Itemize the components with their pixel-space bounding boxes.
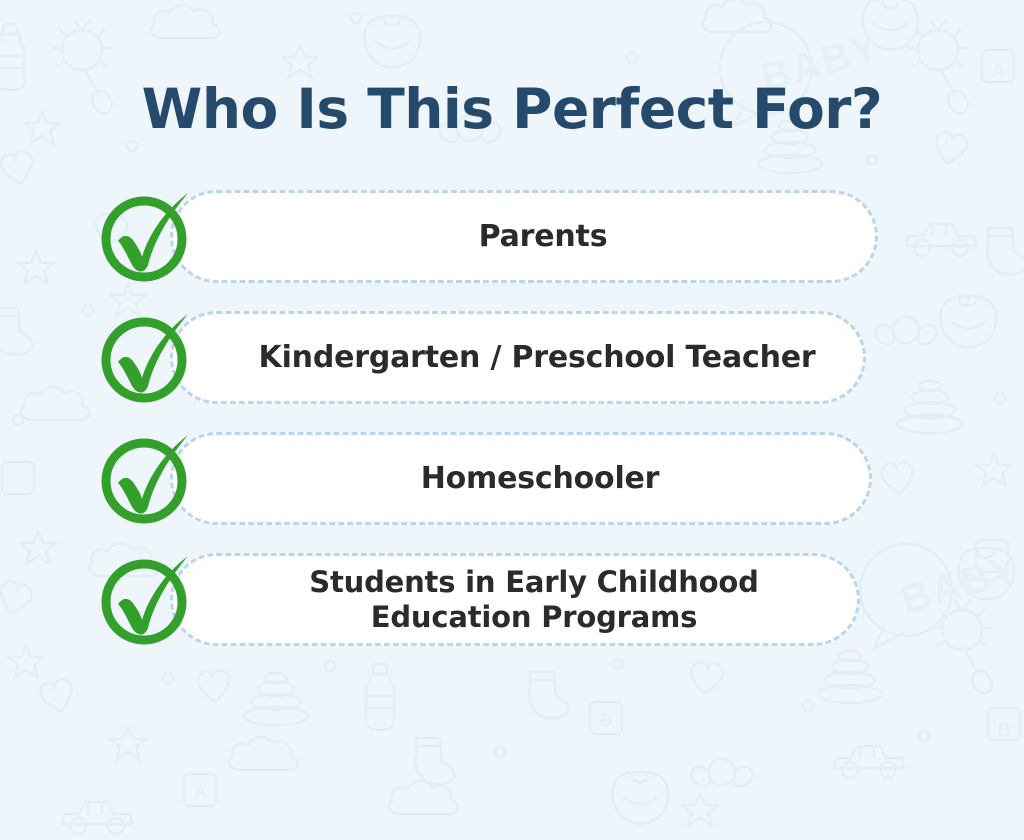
audience-card[interactable]: Homeschooler: [170, 432, 872, 525]
audience-card[interactable]: Students in Early ChildhoodEducation Pro…: [170, 553, 860, 646]
poster-canvas: BABY BABY A B B A Who Is This Perfect Fo…: [0, 0, 1024, 840]
page-title-container: Who Is This Perfect For?: [0, 44, 1024, 175]
audience-card-label: Homeschooler: [421, 461, 660, 496]
audience-card-label: Parents: [479, 219, 608, 254]
green-check-circle-icon: [96, 429, 196, 529]
audience-card[interactable]: Kindergarten / Preschool Teacher: [170, 311, 866, 404]
list-item[interactable]: Homeschooler: [0, 432, 1024, 525]
audience-card-label: Students in Early ChildhoodEducation Pro…: [309, 565, 758, 633]
svg-text:B: B: [600, 710, 613, 730]
audience-list: Parents Kindergarten / Preschool Teacher: [0, 190, 1024, 674]
svg-text:A: A: [194, 782, 207, 802]
audience-card-label-line: Students in Early Childhood: [309, 565, 758, 599]
list-item[interactable]: Students in Early ChildhoodEducation Pro…: [0, 553, 1024, 646]
audience-card-label-line: Education Programs: [309, 600, 758, 634]
audience-card[interactable]: Parents: [170, 190, 878, 283]
svg-text:B: B: [998, 720, 1011, 740]
green-check-circle-icon: [96, 187, 196, 287]
page-title: Who Is This Perfect For?: [142, 81, 883, 139]
green-check-circle-icon: [96, 550, 196, 650]
list-item[interactable]: Kindergarten / Preschool Teacher: [0, 311, 1024, 404]
list-item[interactable]: Parents: [0, 190, 1024, 283]
green-check-circle-icon: [96, 308, 196, 408]
audience-card-label: Kindergarten / Preschool Teacher: [259, 340, 816, 375]
